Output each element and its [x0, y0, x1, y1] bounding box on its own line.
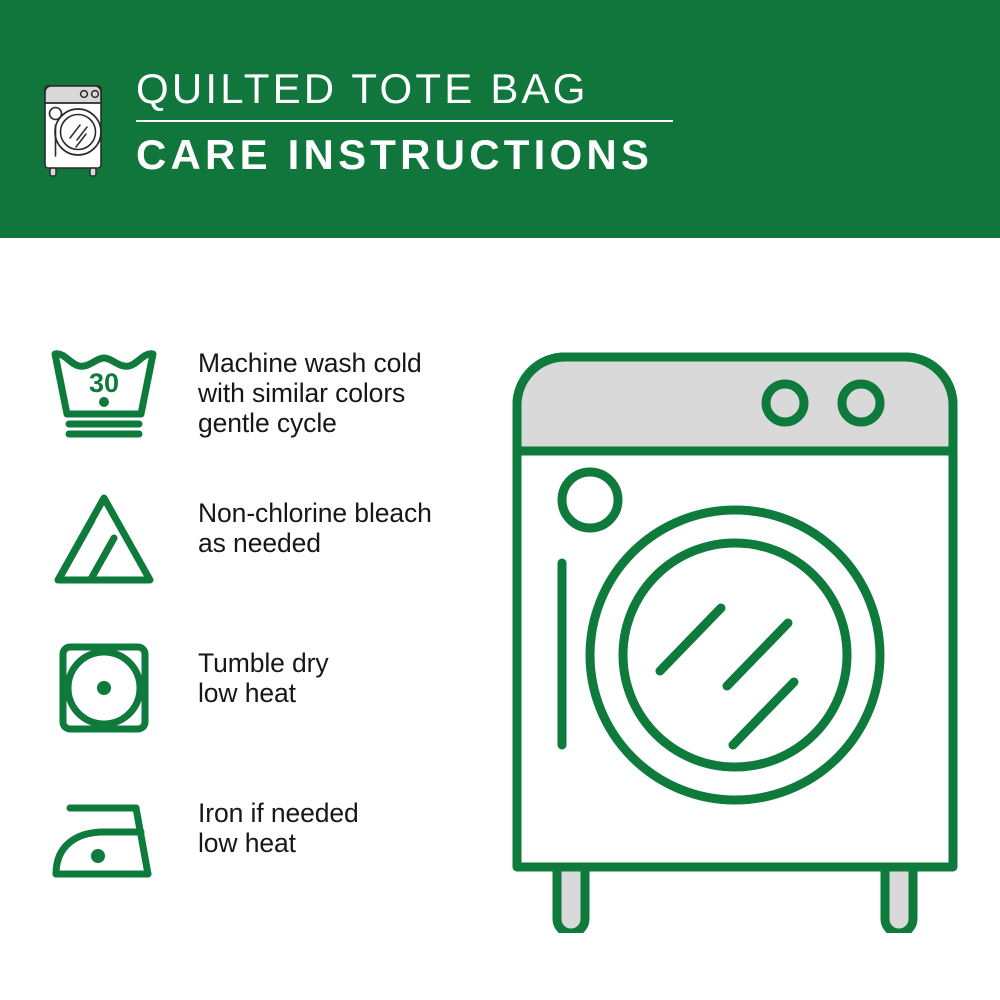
page-header: QUILTED TOTE BAG CARE INSTRUCTIONS [0, 0, 1000, 238]
wash-tub-icon: 30 [48, 338, 160, 442]
washing-machine-illustration [495, 333, 975, 933]
care-text-bleach: Non-chlorine bleach as needed [198, 488, 432, 558]
washing-machine-icon [40, 70, 112, 178]
header-title-block: QUILTED TOTE BAG CARE INSTRUCTIONS [136, 62, 673, 180]
wash-temperature-label: 30 [89, 368, 119, 398]
care-instruction-list: 30 Machine wash cold with similar colors… [48, 338, 468, 938]
tumble-dry-icon [48, 638, 160, 742]
care-text-wash: Machine wash cold with similar colors ge… [198, 338, 422, 438]
product-title: QUILTED TOTE BAG [136, 64, 673, 114]
care-row-tumble-dry: Tumble dry low heat [48, 638, 468, 788]
title-divider [136, 120, 673, 122]
care-instructions-page: QUILTED TOTE BAG CARE INSTRUCTIONS [0, 0, 1000, 1000]
care-row-bleach: Non-chlorine bleach as needed [48, 488, 468, 638]
care-row-wash: 30 Machine wash cold with similar colors… [48, 338, 468, 488]
header-content: QUILTED TOTE BAG CARE INSTRUCTIONS [40, 62, 673, 180]
page-title: CARE INSTRUCTIONS [136, 130, 673, 180]
bleach-triangle-icon [48, 488, 160, 592]
iron-icon [48, 788, 160, 892]
page-body: 30 Machine wash cold with similar colors… [0, 238, 1000, 1000]
care-text-tumble-dry: Tumble dry low heat [198, 638, 329, 708]
care-row-iron: Iron if needed low heat [48, 788, 468, 938]
care-text-iron: Iron if needed low heat [198, 788, 359, 858]
